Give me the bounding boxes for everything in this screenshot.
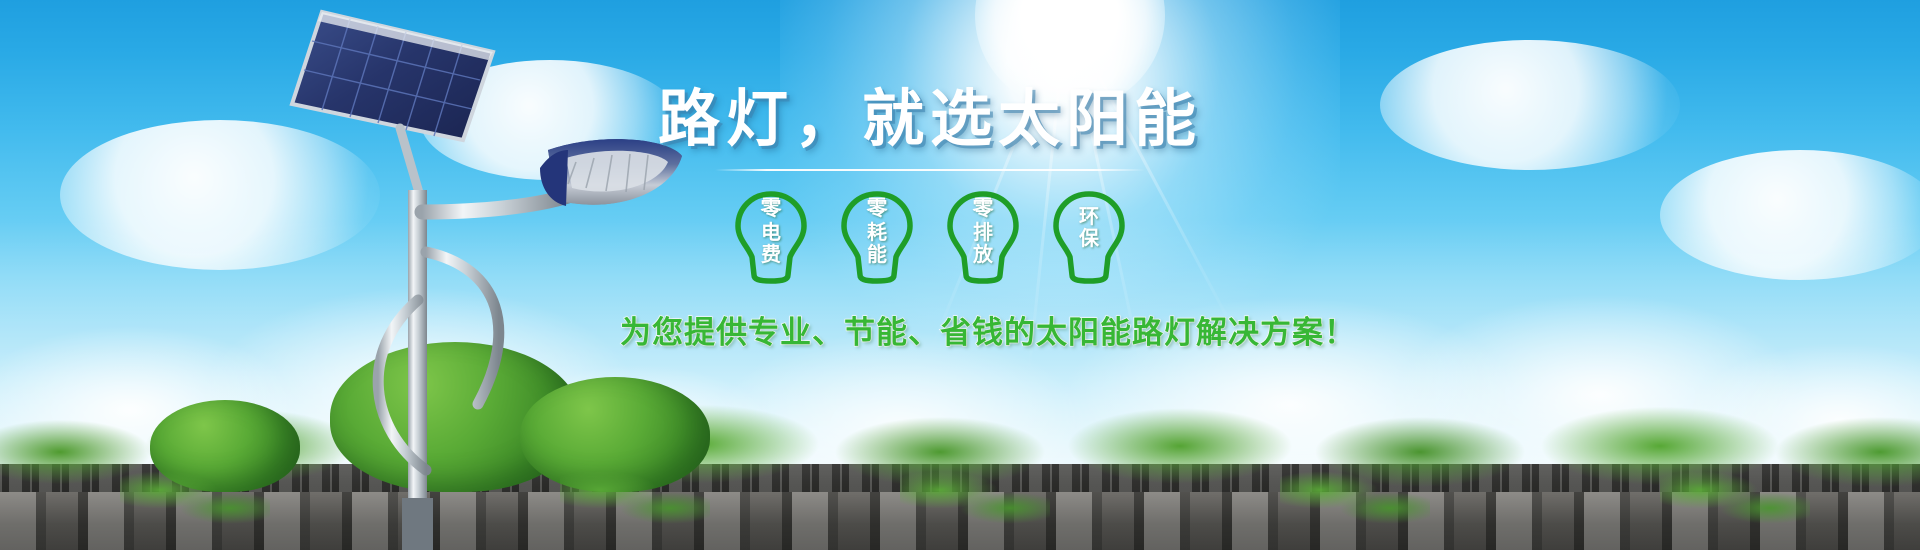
feature-badge-list: 零 电 费 零 耗 能	[620, 189, 1240, 285]
badge-label-line: 排	[944, 221, 1022, 243]
vine-icon	[1280, 450, 1430, 530]
badge-label: 电 费	[732, 221, 810, 266]
cloud-icon	[1660, 150, 1920, 280]
badge-label: 耗 能	[838, 221, 916, 266]
badge-eco-friendly[interactable]: 环 保	[1050, 189, 1128, 285]
badge-symbol: 零	[838, 197, 916, 221]
vine-icon	[900, 450, 1050, 530]
vine-icon	[1660, 450, 1810, 530]
solar-street-light-banner: 路灯，就选太阳能 零 电 费	[0, 0, 1920, 550]
badge-label-line: 耗	[838, 221, 916, 243]
cloud-icon	[1380, 40, 1680, 170]
badge-label-line: 能	[838, 243, 916, 265]
badge-electric-fee[interactable]: 零 电 费	[732, 189, 810, 285]
badge-symbol: 零	[944, 197, 1022, 221]
page-title: 路灯，就选太阳能	[620, 86, 1240, 151]
badge-label: 环 保	[1050, 205, 1128, 250]
solar-panel	[292, 12, 493, 140]
banner-tagline: 为您提供专业、节能、省钱的太阳能路灯解决方案！	[620, 307, 1240, 352]
badge-energy-consumption[interactable]: 零 耗 能	[838, 189, 916, 285]
badge-label: 排 放	[944, 221, 1022, 266]
vine-icon	[120, 450, 270, 530]
badge-label-line: 保	[1050, 227, 1128, 249]
banner-copy: 路灯，就选太阳能 零 电 费	[620, 86, 1240, 352]
headline-divider	[715, 169, 1145, 171]
badge-label-line: 放	[944, 243, 1022, 265]
badge-label-line: 费	[732, 243, 810, 265]
badge-label-line: 环	[1050, 205, 1128, 227]
badge-emission[interactable]: 零 排 放	[944, 189, 1022, 285]
badge-label-line: 电	[732, 221, 810, 243]
badge-symbol: 零	[732, 197, 810, 221]
